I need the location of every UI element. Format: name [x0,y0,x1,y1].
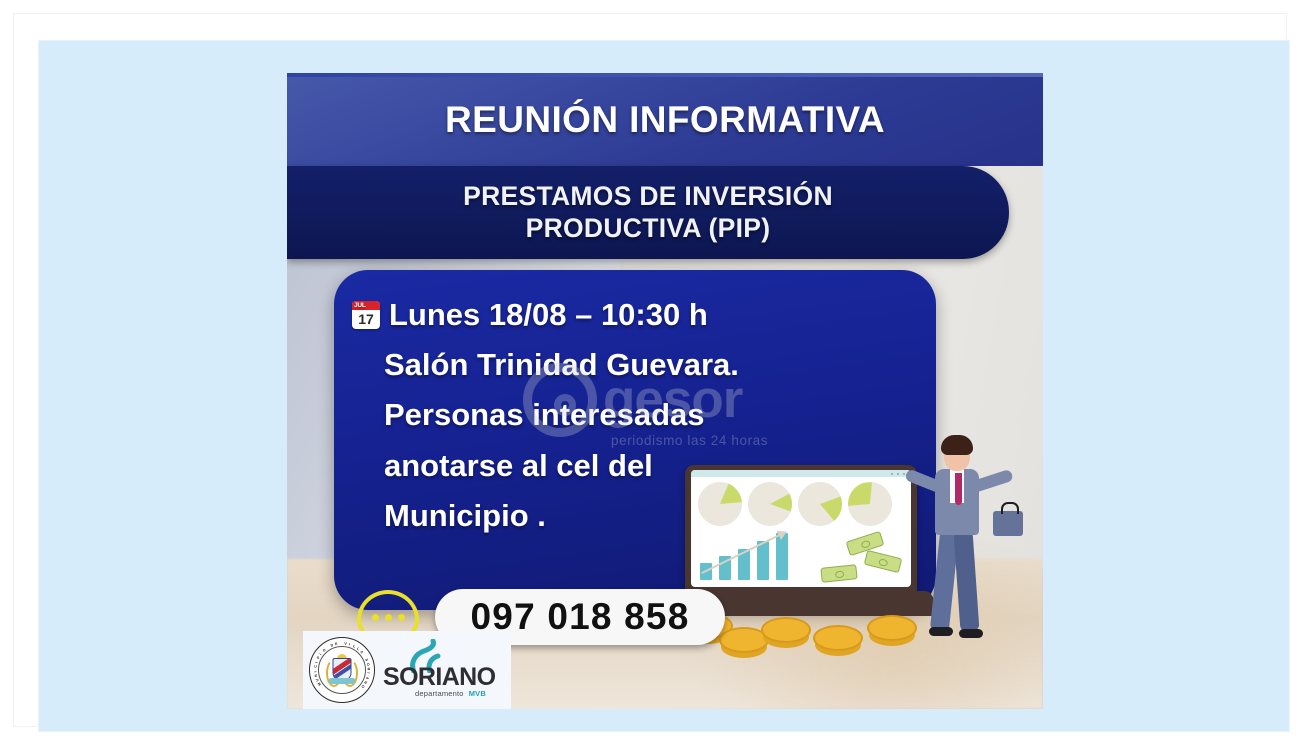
briefcase-icon [993,511,1023,536]
seal-banner [329,678,355,684]
seal-ring-char: R [366,668,370,671]
banknotes [817,536,903,582]
pie-chart [748,482,792,526]
villa-soriano-seal-icon: MUNICIPIO DE VILLA SORIANO [309,637,375,703]
poster: REUNIÓN INFORMATIVA PRESTAMOS DE INVERSI… [287,73,1043,709]
seal-ring-char [362,654,366,657]
soriano-department-label: departamentoMVB [415,689,486,698]
image-frame: REUNIÓN INFORMATIVA PRESTAMOS DE INVERSI… [14,14,1286,726]
calendar-month: JUL [352,301,380,310]
seal-ring-char: O [366,663,371,667]
soriano-wordmark: SORIANO [383,665,495,690]
laptop-display [691,470,911,587]
person-tie [955,473,962,505]
page-root: REUNIÓN INFORMATIVA PRESTAMOS DE INVERSI… [0,0,1300,754]
businessperson-illustration [901,429,1019,679]
soriano-logo: SORIANO departamentoMVB [381,639,493,701]
seal-inner [318,646,366,694]
pie-chart-row [698,482,904,526]
seal-ring-char [340,642,341,646]
toolbar-dot [891,473,894,476]
info-line-date: JUL 17 Lunes 18/08 – 10:30 h [352,290,922,340]
logo-strip: MUNICIPIO DE VILLA SORIANO [303,631,511,709]
seal-ring-char: A [365,676,370,680]
coin [813,625,863,651]
info-line-0: Lunes 18/08 – 10:30 h [389,290,708,340]
toolbar-dot [897,473,900,476]
subtitle-band: PRESTAMOS DE INVERSIÓN PRODUCTIVA (PIP) [287,166,1009,259]
bubble-dot [398,614,405,621]
person-hair [941,435,973,455]
person-right-shoe [959,629,983,638]
soriano-dept-accent: MVB [469,689,486,698]
bubble-dot [385,614,392,621]
pie-chart [848,482,892,526]
illustration [679,429,1031,709]
banknote [820,564,857,583]
bar [757,541,769,580]
subtitle-line-1: PRESTAMOS DE INVERSIÓN [463,181,833,211]
coin [761,617,811,643]
seal-ring-char: I [366,672,370,673]
pie-chart [798,482,842,526]
subtitle-line-2: PRODUCTIVA (PIP) [526,213,771,243]
subtitle-text: PRESTAMOS DE INVERSIÓN PRODUCTIVA (PIP) [463,181,833,244]
bar [776,533,788,580]
seal-ring-char: I [314,671,318,672]
pie-chart [698,482,742,526]
image-canvas: REUNIÓN INFORMATIVA PRESTAMOS DE INVERSI… [38,40,1290,732]
bubble-dot [372,614,379,621]
info-line-1: Salón Trinidad Guevara. [352,340,922,390]
person-right-leg [954,530,980,631]
seal-ring-char: N [363,680,368,684]
calendar-day: 17 [352,310,380,329]
seal-ring-char: O [360,684,365,689]
person-left-shoe [929,627,953,636]
banknote [864,550,903,573]
seal-ring-char: S [364,658,369,662]
calendar-icon: JUL 17 [352,301,380,329]
browser-toolbar [691,470,911,477]
poster-header: REUNIÓN INFORMATIVA [287,73,1043,166]
bar-chart [700,532,808,580]
soriano-dept-text: departamento [415,689,464,698]
header-title: REUNIÓN INFORMATIVA [445,99,885,141]
laptop-screen [685,465,917,593]
